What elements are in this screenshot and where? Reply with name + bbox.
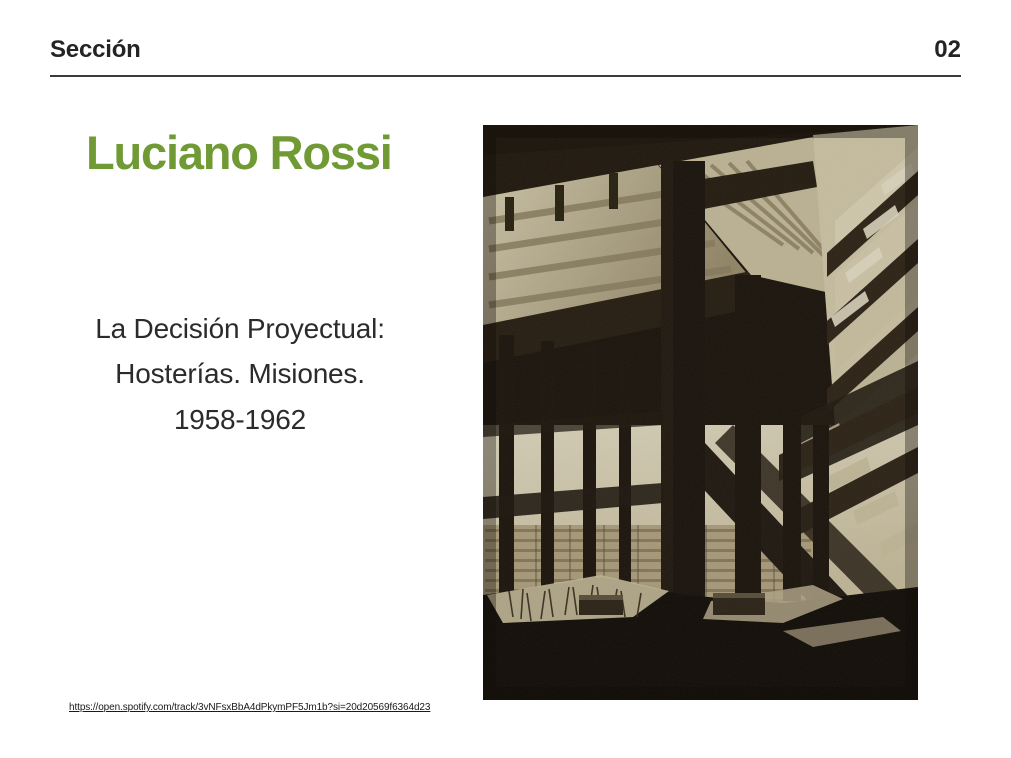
source-url-link[interactable]: https://open.spotify.com/track/3vNFsxBbA… bbox=[69, 703, 430, 713]
subtitle-line-3: 1958-1962 bbox=[40, 397, 440, 442]
author-title: Luciano Rossi bbox=[86, 128, 392, 177]
subtitle-block: La Decisión Proyectual: Hosterías. Misio… bbox=[40, 306, 440, 442]
slide-canvas: Sección 02 Luciano Rossi La Decisión Pro… bbox=[0, 0, 1011, 758]
photo-illustration bbox=[483, 125, 918, 700]
subtitle-line-1: La Decisión Proyectual: bbox=[40, 306, 440, 351]
page-number: 02 bbox=[934, 38, 961, 62]
slide-header: Sección 02 bbox=[50, 38, 961, 78]
subtitle-line-2: Hosterías. Misiones. bbox=[40, 351, 440, 396]
hosteria-timber-structure-photo bbox=[483, 125, 918, 700]
page-title: Sección bbox=[50, 38, 141, 62]
header-divider bbox=[50, 75, 961, 77]
